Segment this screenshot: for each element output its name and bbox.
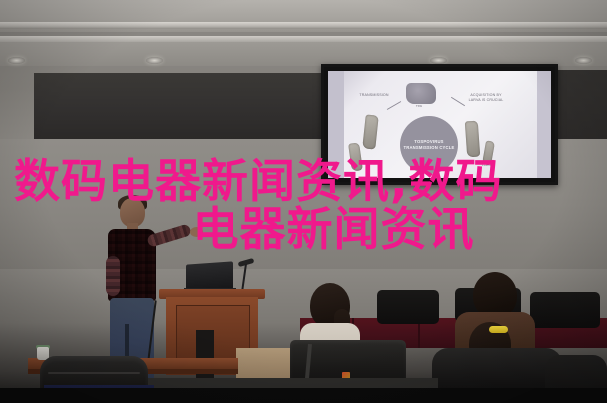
bottom-dark-edge xyxy=(0,388,607,403)
chair xyxy=(530,292,600,328)
slide-label-transmission: TRANSMISSION xyxy=(354,93,394,98)
ceiling-molding-upper xyxy=(0,22,607,29)
chair-seam xyxy=(48,372,140,374)
thrips-insect-icon xyxy=(465,121,480,158)
arrow-icon xyxy=(387,101,401,110)
thrips-insect-icon xyxy=(362,114,378,149)
downlight-icon xyxy=(146,57,163,64)
watermark-line-2: 电器新闻资讯 xyxy=(0,206,607,252)
downlight-icon xyxy=(8,57,25,64)
screenshot-photo: TRANSMISSION ACQUISITION BY LARVA IS CRU… xyxy=(0,0,607,403)
watermark-line-1: 数码电器新闻资讯,数码 xyxy=(0,158,607,204)
virus-particle-icon xyxy=(406,83,436,104)
downlight-icon xyxy=(430,57,447,64)
downlight-icon xyxy=(575,57,592,64)
arrow-icon xyxy=(451,97,465,106)
slide-label-tsw: TSW xyxy=(412,105,426,110)
ceiling-soffit xyxy=(0,42,607,66)
presenter-left-arm xyxy=(106,256,120,296)
chair xyxy=(377,290,439,324)
slide-label-acquisition: ACQUISITION BY LARVA IS CRUCIAL xyxy=(464,93,508,102)
slide-cycle-title: TOSPOVIRUS TRANSMISSION CYCLE xyxy=(400,139,458,151)
hair-clip-icon xyxy=(489,326,508,333)
